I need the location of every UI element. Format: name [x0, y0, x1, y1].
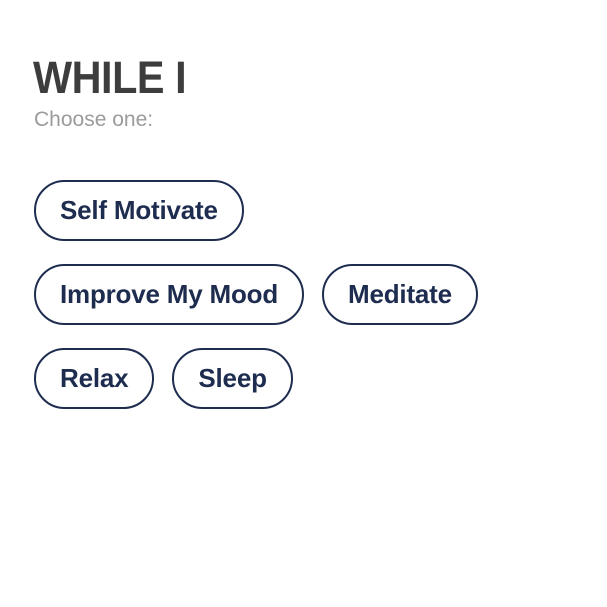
choice-button-self-motivate[interactable]: Self Motivate — [34, 180, 244, 241]
choice-button-meditate[interactable]: Meditate — [322, 264, 478, 325]
choice-row: Improve My Mood Meditate — [34, 264, 579, 325]
choice-button-sleep[interactable]: Sleep — [172, 348, 292, 409]
choice-row: Self Motivate — [34, 180, 579, 241]
choice-button-label: Meditate — [348, 281, 452, 307]
choice-screen: WHILE I Choose one: Self Motivate Improv… — [0, 0, 607, 607]
choice-list: Self Motivate Improve My Mood Meditate R… — [34, 180, 579, 409]
choice-button-label: Relax — [60, 365, 128, 391]
choice-button-label: Sleep — [198, 365, 266, 391]
choice-row: Relax Sleep — [34, 348, 579, 409]
page-title: WHILE I — [33, 52, 186, 104]
choice-button-label: Improve My Mood — [60, 281, 278, 307]
choice-button-improve-my-mood[interactable]: Improve My Mood — [34, 264, 304, 325]
choose-one-label: Choose one: — [34, 107, 153, 132]
choice-button-label: Self Motivate — [60, 197, 218, 223]
choice-button-relax[interactable]: Relax — [34, 348, 154, 409]
